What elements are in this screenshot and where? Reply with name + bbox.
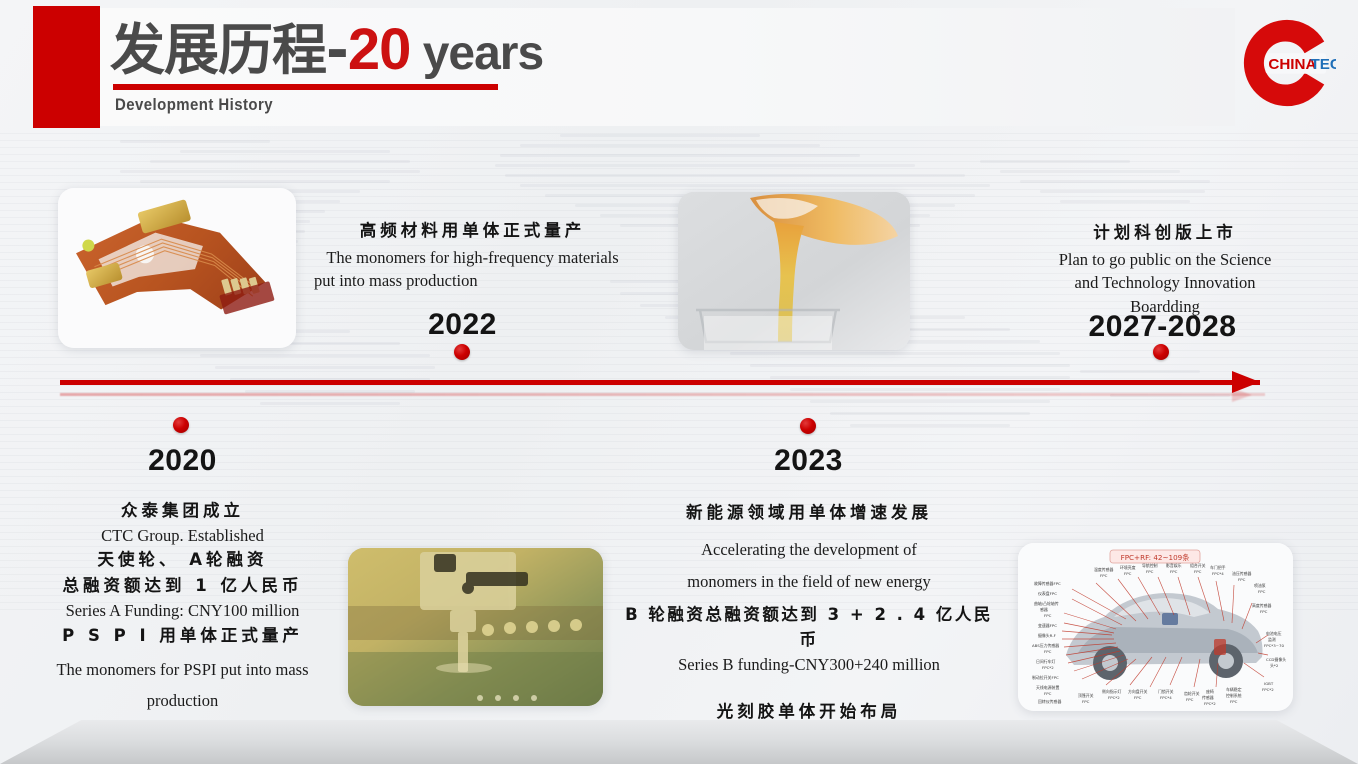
title-underline [113, 84, 498, 90]
svg-text:齿轮开关: 齿轮开关 [1184, 691, 1200, 696]
svg-text:FPC: FPC [1230, 699, 1238, 704]
milestone-2020-cn-4: P S P I 用单体正式量产 [30, 623, 335, 649]
milestone-2027-cn-1: 计划科创版上市 [1020, 220, 1310, 246]
timeline-axis [60, 380, 1260, 385]
svg-text:喷油泵: 喷油泵 [1254, 583, 1266, 588]
svg-text:FPC: FPC [1044, 691, 1052, 696]
milestone-2023-en-3: Series B funding-CNY300+240 million [620, 653, 998, 677]
milestone-2022-text: 高频材料用单体正式量产 The monomers for high-freque… [300, 218, 645, 293]
milestone-2022-cn-1: 高频材料用单体正式量产 [300, 218, 645, 244]
svg-text:座椅: 座椅 [1206, 689, 1214, 694]
page-title-years [410, 27, 422, 80]
milestone-2023-year: 2023 [746, 444, 871, 478]
milestone-2027-year: 2027-2028 [1070, 310, 1255, 344]
milestone-2020-dot [173, 417, 189, 433]
svg-text:FPC*2: FPC*2 [1108, 695, 1120, 700]
svg-text:FPC: FPC [1194, 569, 1202, 574]
milestone-2020-year: 2020 [120, 444, 245, 478]
svg-text:FPC: FPC [1146, 569, 1154, 574]
milestone-2022-year: 2022 [400, 308, 525, 342]
page-title-years-word: years [423, 27, 543, 80]
svg-text:制动拉开关FPC: 制动拉开关FPC [1032, 675, 1059, 680]
svg-text:TECH: TECH [1311, 56, 1336, 73]
milestone-2022-en-2: put into mass production [300, 269, 645, 293]
svg-text:回转仪传感器: 回转仪传感器 [1038, 699, 1061, 704]
svg-text:高度传感器: 高度传感器 [1252, 603, 1272, 608]
milestone-2023-dot [800, 418, 816, 434]
svg-text:油压传感器: 油压传感器 [1232, 571, 1252, 576]
milestone-2020-cn-1: 众泰集团成立 [30, 498, 335, 524]
svg-text:曲轴/凸轮轴传: 曲轴/凸轮轴传 [1034, 601, 1059, 606]
svg-text:车门把手: 车门把手 [1210, 565, 1226, 570]
milestone-2020-cn-3: 总融资额达到 1 亿人民币 [30, 573, 335, 599]
milestone-2020-cn-2: 天使轮、 A轮融资 [30, 547, 335, 573]
svg-text:仪表盘FPC: 仪表盘FPC [1038, 591, 1057, 596]
svg-text:FPC: FPC [1044, 613, 1052, 618]
svg-text:组合开关: 组合开关 [1190, 563, 1206, 568]
milestone-2020-text: 众泰集团成立 CTC Group. Established 天使轮、 A轮融资 … [30, 498, 335, 717]
milestone-2020-en-3: The monomers for PSPI put into mass [30, 654, 335, 685]
milestone-2022-en-1: The monomers for high-frequency material… [300, 246, 645, 270]
milestone-2027-text: 计划科创版上市 Plan to go public on the Science… [1020, 220, 1310, 319]
chinatech-logo: CHINA TECH [1238, 14, 1336, 112]
svg-text:方向盘开关: 方向盘开关 [1128, 689, 1148, 694]
svg-text:温度传感器: 温度传感器 [1094, 567, 1114, 572]
svg-text:FPC*4: FPC*4 [1212, 571, 1224, 576]
page-title: 发展历程-20 years [110, 12, 543, 88]
svg-text:头*2: 头*2 [1270, 663, 1279, 668]
milestone-2023-cn-1: 新能源领域用单体增速发展 [620, 500, 998, 526]
milestone-2027-en-1: Plan to go public on the Science [1020, 248, 1310, 272]
svg-text:FPC*2: FPC*2 [1042, 665, 1054, 670]
svg-text:FPC: FPC [1258, 589, 1266, 594]
bottom-decorative-band [0, 720, 1358, 764]
svg-text:FPC: FPC [1124, 571, 1132, 576]
svg-text:门锁开关: 门锁开关 [1158, 689, 1174, 694]
fpc-flex-circuit-photo [58, 188, 296, 348]
svg-text:FPC: FPC [1238, 577, 1246, 582]
amber-resin-pouring-photo [678, 192, 910, 350]
car-diagram-badge-text: FPC+RF: 42~109条 [1121, 553, 1190, 562]
svg-text:CCD摄像头: CCD摄像头 [1266, 657, 1286, 662]
milestone-2020-en-4: production [30, 685, 335, 716]
milestone-2027-dot [1153, 344, 1169, 360]
svg-text:FPC*2: FPC*2 [1262, 687, 1274, 692]
milestone-2023-text: 新能源领域用单体增速发展 Accelerating the developmen… [620, 500, 998, 748]
svg-text:电池电压: 电池电压 [1266, 631, 1282, 636]
milestone-2023-en-2: monomers in the field of new energy [620, 566, 998, 598]
slide-canvas: 发展历程-20 years Development History CHINA … [0, 0, 1358, 764]
milestone-2027-en-2: and Technology Innovation [1020, 271, 1310, 295]
svg-text:日间行车灯: 日间行车灯 [1036, 659, 1056, 664]
svg-text:FPC: FPC [1186, 697, 1194, 702]
svg-text:感器: 感器 [1040, 607, 1048, 612]
milestone-2022-dot [454, 344, 470, 360]
milestone-2020-en-1: CTC Group. Established [30, 524, 335, 548]
svg-text:FPC: FPC [1082, 699, 1090, 704]
svg-text:FPC: FPC [1100, 573, 1108, 578]
milestone-2020-en-2: Series A Funding: CNY100 million [30, 599, 335, 623]
svg-text:FPC: FPC [1134, 695, 1142, 700]
svg-text:变速器FPC: 变速器FPC [1038, 623, 1057, 628]
svg-text:影音娱乐: 影音娱乐 [1166, 563, 1182, 568]
svg-text:FPC: FPC [1044, 649, 1052, 654]
page-subtitle: Development History [115, 92, 273, 118]
page-title-number: 20 [348, 17, 411, 82]
svg-text:导航控制: 导航控制 [1142, 563, 1158, 568]
svg-text:控制系统: 控制系统 [1226, 693, 1242, 698]
page-title-cn: 发展历程- [110, 18, 348, 82]
header-red-block [33, 6, 100, 128]
automotive-fpc-diagram-photo: FPC+RF: 42~109条 [1018, 543, 1293, 711]
svg-text:环境亮度: 环境亮度 [1120, 565, 1136, 570]
svg-text:FPC: FPC [1170, 569, 1178, 574]
svg-text:侧向指示灯: 侧向指示灯 [1102, 689, 1122, 694]
milestone-2023-cn-2: B 轮融资总融资额达到 3 + 2 . 4 亿人民币 [620, 602, 998, 653]
svg-text:摄像头R-F: 摄像头R-F [1038, 633, 1057, 638]
svg-text:监测: 监测 [1268, 637, 1276, 642]
svg-text:车辆稳定: 车辆稳定 [1226, 687, 1242, 692]
svg-text:FPC*3~70: FPC*3~70 [1264, 643, 1284, 648]
timeline-arrowhead-icon [1232, 371, 1260, 393]
svg-text:IGBT: IGBT [1264, 681, 1274, 686]
svg-text:传感器: 传感器 [1202, 695, 1214, 700]
svg-text:CHINA: CHINA [1268, 56, 1316, 73]
svg-text:FPC: FPC [1260, 609, 1268, 614]
milestone-2023-en-1: Accelerating the development of [620, 534, 998, 566]
svg-text:FPC*2: FPC*2 [1204, 701, 1216, 706]
svg-text:FPC*4: FPC*4 [1160, 695, 1172, 700]
timeline-reflection [60, 393, 1265, 396]
svg-text:顶篷开关: 顶篷开关 [1078, 693, 1094, 698]
svg-text:ABS压力传感器: ABS压力传感器 [1032, 643, 1059, 648]
svg-text:故障传感器FPC: 故障传感器FPC [1034, 581, 1061, 586]
svg-text:天线电源装置: 天线电源装置 [1036, 685, 1059, 690]
golden-dispensing-machine-photo [348, 548, 603, 706]
